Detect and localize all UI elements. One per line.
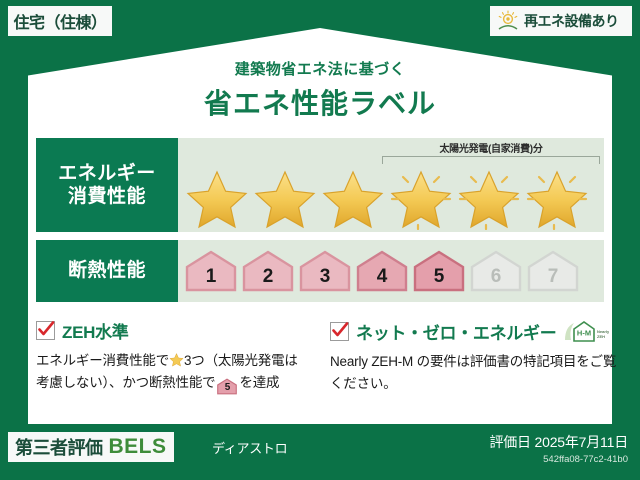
grade-value: 2 <box>263 266 274 288</box>
zeh-body-part1: エネルギー消費性能で <box>36 353 169 368</box>
building-type-tab: 住宅（住棟） <box>8 6 112 36</box>
sun-solar-icon <box>496 10 520 32</box>
nearly-zeh-m-logo-icon: H-M Nearly ZEH <box>563 318 609 344</box>
solar-annotation: 太陽光発電(自家消費)分 <box>382 140 600 164</box>
star-icon <box>320 166 386 230</box>
insulation-performance-body: 1 2 3 4 5 <box>178 240 604 302</box>
svg-text:ZEH: ZEH <box>597 334 605 339</box>
inline-grade-badge: 5 <box>216 378 238 395</box>
grade-badge: 4 <box>355 249 409 293</box>
building-type-label: 住宅（住棟） <box>13 9 106 33</box>
net-zero-energy-title: ネット・ゼロ・エネルギー <box>356 319 556 344</box>
grade-value: 3 <box>320 266 331 288</box>
zeh-body-part3: を達成 <box>239 375 279 390</box>
bels-mark: BELS <box>109 435 167 459</box>
energy-performance-label-box: エネルギー 消費性能 <box>36 138 178 232</box>
grade-value: 1 <box>206 266 217 288</box>
svg-text:H-M: H-M <box>577 329 591 338</box>
energy-label-line1: エネルギー <box>58 162 156 185</box>
zeh-standard-body: エネルギー消費性能で 3つ（太陽光発電は考慮しない）、かつ断熱性能で 5を達成 <box>36 350 306 395</box>
energy-performance-body: 太陽光発電(自家消費)分 <box>178 138 604 232</box>
grade-badge: 1 <box>184 249 238 293</box>
inline-star-icon <box>169 352 184 367</box>
star-icon-solar <box>388 166 454 230</box>
net-zero-energy-body: Nearly ZEH-M の要件は評価書の特記項目をご覧ください。 <box>330 351 618 395</box>
energy-performance-label: 住宅（住棟） 再エネ設備あり 建築物省エネ法に基づく 省エネ性能ラベル <box>0 0 640 480</box>
insulation-grade-scale: 1 2 3 4 5 <box>184 249 580 293</box>
grade-badge: 3 <box>298 249 352 293</box>
insulation-performance-row: 断熱性能 1 2 3 4 <box>36 240 604 302</box>
net-zero-energy-section: ネット・ゼロ・エネルギー H-M Nearly ZEH Nearly ZEH-M… <box>330 318 618 395</box>
grade-badge-inactive: 7 <box>526 249 580 293</box>
renewable-equipment-label: 再エネ設備あり <box>524 11 619 31</box>
evaluation-meta: 評価日 2025年7月11日 542ffa08-77c2-41b0 <box>489 432 628 465</box>
renewable-equipment-tab: 再エネ設備あり <box>490 6 632 36</box>
owner-name: ディアストロ <box>212 438 287 457</box>
third-party-label: 第三者評価 <box>15 434 103 460</box>
title-subtitle: 建築物省エネ法に基づく <box>0 58 640 79</box>
solar-annotation-bracket <box>382 156 600 164</box>
star-icon <box>252 166 318 230</box>
solar-annotation-label: 太陽光発電(自家消費)分 <box>382 140 600 155</box>
zeh-standard-title: ZEH水準 <box>62 318 129 343</box>
title-main: 省エネ性能ラベル <box>0 82 640 122</box>
label-footer: 第三者評価 BELS ディアストロ 評価日 2025年7月11日 542ffa0… <box>0 424 640 480</box>
grade-badge: 2 <box>241 249 295 293</box>
evaluation-date: 評価日 2025年7月11日 <box>489 432 628 452</box>
star-icon-solar <box>524 166 590 230</box>
star-icon-solar <box>456 166 522 230</box>
net-zero-energy-header: ネット・ゼロ・エネルギー H-M Nearly ZEH <box>330 318 618 344</box>
grade-value: 6 <box>491 266 502 288</box>
grade-badge-inactive: 6 <box>469 249 523 293</box>
inline-grade-value: 5 <box>216 378 238 398</box>
insulation-label: 断熱性能 <box>68 259 146 282</box>
grade-badge-achieved: 5 <box>412 249 466 293</box>
page-title: 建築物省エネ法に基づく 省エネ性能ラベル <box>0 58 640 122</box>
grade-value: 7 <box>548 266 559 288</box>
insulation-performance-label-box: 断熱性能 <box>36 240 178 302</box>
zeh-standard-header: ZEH水準 <box>36 318 306 343</box>
star-icon <box>184 166 250 230</box>
grade-value: 4 <box>377 266 388 288</box>
energy-label-line2: 消費性能 <box>68 185 146 208</box>
checkbox-checked-icon <box>36 321 55 340</box>
checkbox-checked-icon <box>330 322 349 341</box>
energy-star-rating <box>184 166 590 230</box>
grade-value: 5 <box>434 266 445 288</box>
energy-performance-row: エネルギー 消費性能 太陽光発電(自家消費)分 <box>36 138 604 232</box>
evaluation-uid: 542ffa08-77c2-41b0 <box>489 454 628 465</box>
zeh-standard-section: ZEH水準 エネルギー消費性能で 3つ（太陽光発電は考慮しない）、かつ断熱性能で… <box>36 318 306 395</box>
bels-badge: 第三者評価 BELS <box>8 432 174 462</box>
